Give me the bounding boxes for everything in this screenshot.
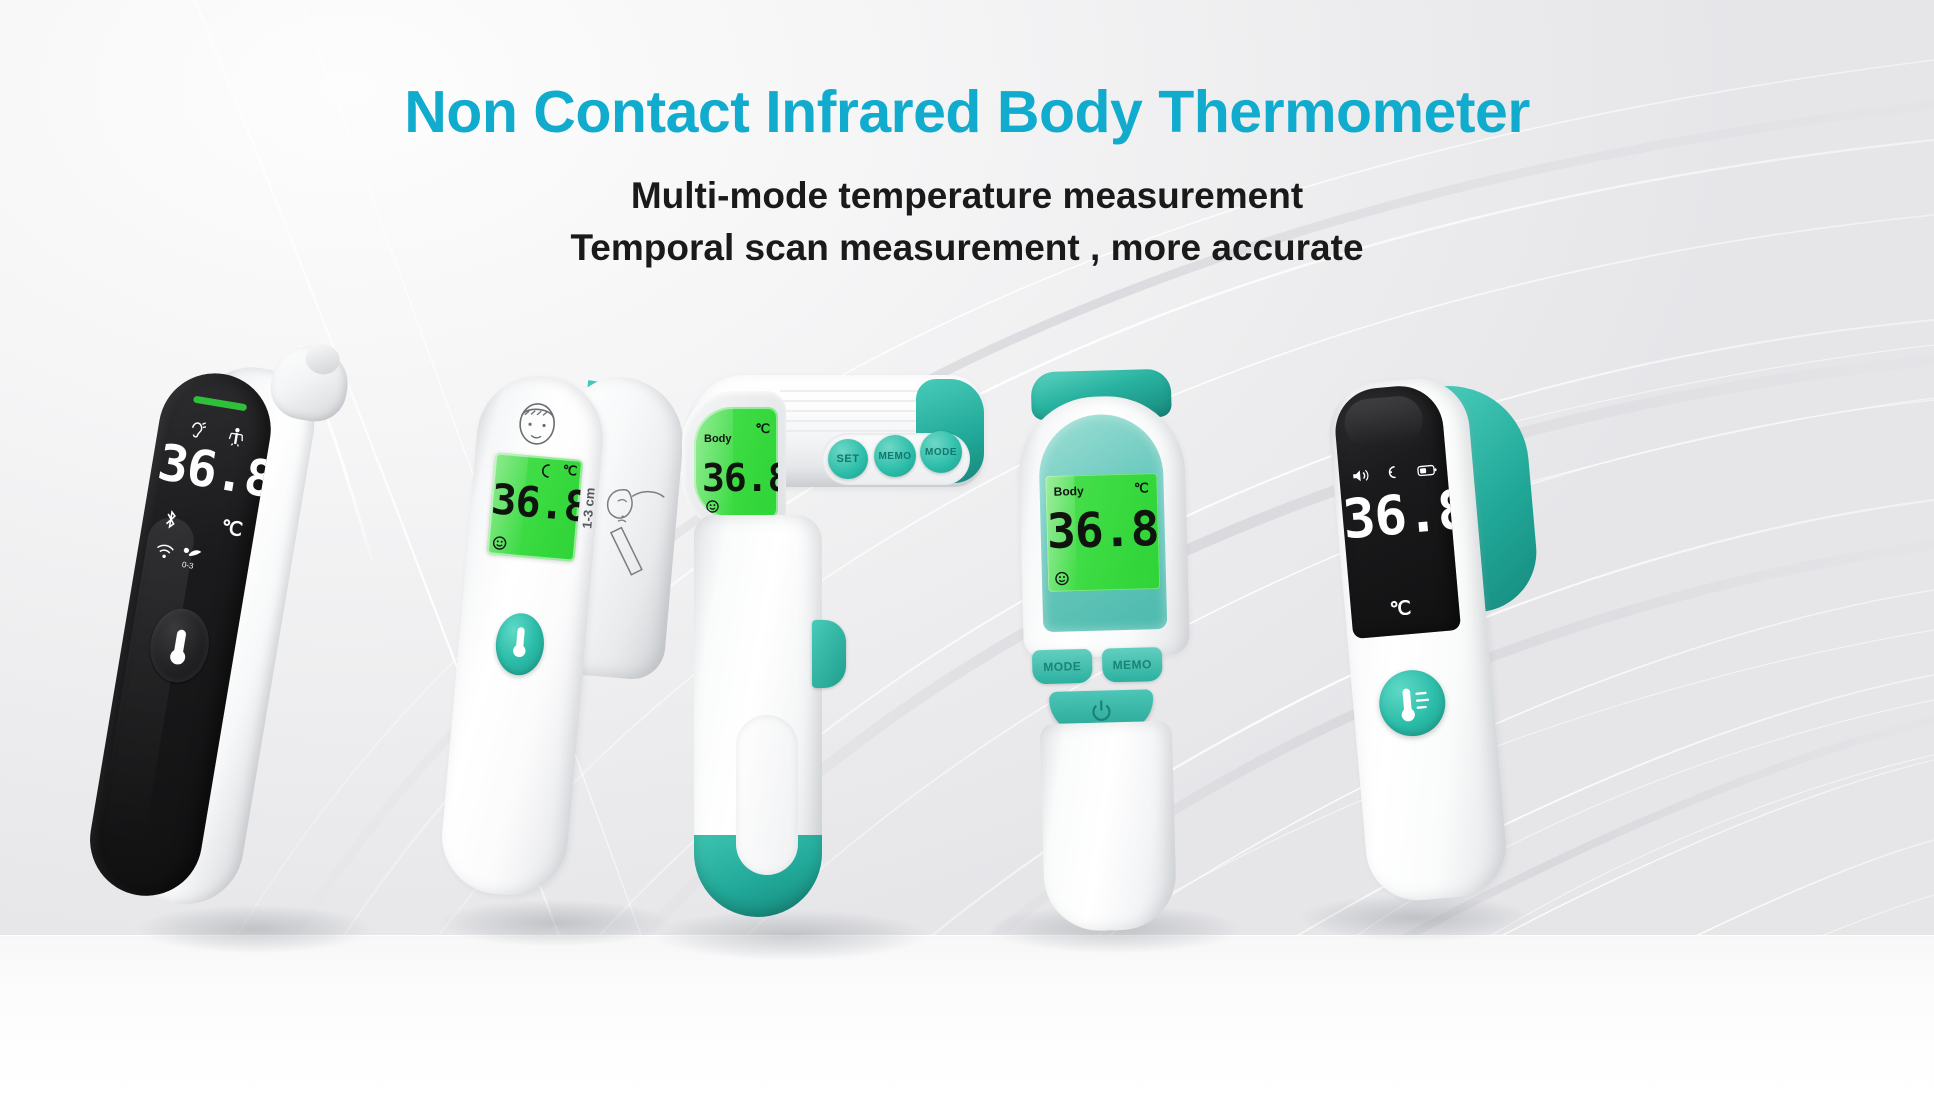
memo-button-4[interactable]: MEMO — [1102, 647, 1163, 683]
wifi-icon — [154, 541, 176, 560]
handle-inner-slot-3 — [736, 715, 798, 875]
subtitle-block: Multi-mode temperature measurement Tempo… — [0, 170, 1934, 275]
memo-button-label-4: MEMO — [1112, 657, 1152, 672]
mode-button-label-4: MODE — [1043, 659, 1081, 674]
smiley-icon — [492, 536, 507, 551]
temperature-unit-5: ℃ — [1350, 594, 1450, 625]
mode-button-3[interactable]: MODE — [920, 431, 962, 473]
subtitle-line-2: Temporal scan measurement , more accurat… — [0, 222, 1934, 275]
product-thermometer-oled-slim: 36.8 ℃ — [1292, 343, 1621, 935]
headings-block: Non Contact Infrared Body Thermometer Mu… — [0, 82, 1934, 275]
set-button-3[interactable]: SET — [828, 439, 868, 479]
mode-button-label-3: MODE — [925, 447, 957, 458]
smiley-icon — [1055, 571, 1069, 585]
temperature-unit-3: ℃ — [755, 421, 770, 437]
trigger-teal-3[interactable] — [812, 620, 846, 688]
page-title: Non Contact Infrared Body Thermometer — [0, 82, 1934, 144]
subtitle-line-1: Multi-mode temperature measurement — [0, 170, 1934, 223]
product-thermometer-gun-large: Body ℃ 36.8 SET MEMO MODE — [670, 365, 990, 945]
product-banner: Non Contact Infrared Body Thermometer Mu… — [0, 0, 1934, 1097]
product-thermometer-gun-teal-cap: Body ℃ 36.8 MODE MEMO — [989, 367, 1264, 934]
memo-button-3[interactable]: MEMO — [874, 435, 916, 477]
measure-button-5[interactable] — [1377, 667, 1449, 739]
mode-label-4: Body — [1054, 484, 1084, 499]
temperature-unit-1: ℃ — [219, 516, 243, 542]
lcd-screen-2: ℃ 36.8 — [487, 452, 584, 561]
lcd-screen-3: Body ℃ 36.8 — [694, 407, 778, 519]
forehead-icon — [539, 462, 554, 479]
temperature-reading-4: 36.8 — [1046, 505, 1159, 556]
mode-button-4[interactable]: MODE — [1032, 649, 1093, 685]
thermometer-icon — [493, 611, 546, 677]
temperature-unit-2: ℃ — [562, 462, 578, 479]
thermometer-scan-icon — [1377, 667, 1449, 739]
ear-scan-icon — [587, 469, 674, 587]
floor-surface — [0, 935, 1934, 1097]
measure-button-1[interactable] — [145, 604, 214, 687]
temperature-reading-3: 36.8 — [702, 459, 776, 497]
temperature-reading-1: 36.8 — [155, 437, 262, 503]
device-grip-4 — [1040, 721, 1177, 932]
product-thermometer-oled-ear: 36.8 ℃ 0-3 — [63, 311, 399, 942]
baby-age-label: 0-3 — [181, 560, 194, 571]
battery-icon — [1416, 463, 1437, 478]
temperature-reading-5: 36.8 — [1341, 485, 1445, 548]
status-bar-indicator-1 — [193, 396, 247, 412]
screen-gloss-5 — [1343, 394, 1425, 449]
memo-button-label-3: MEMO — [878, 451, 911, 462]
measure-button-2[interactable] — [493, 611, 546, 677]
sound-icon — [1351, 467, 1370, 485]
oled-screen-5: 36.8 ℃ — [1332, 383, 1461, 639]
temperature-unit-4: ℃ — [1134, 480, 1149, 496]
child-face-icon — [508, 394, 567, 453]
thermometer-icon — [145, 604, 214, 687]
power-icon — [1088, 698, 1115, 725]
lcd-screen-4: Body ℃ 36.8 — [1045, 473, 1160, 592]
set-button-label-3: SET — [837, 453, 860, 465]
smiley-icon — [706, 500, 719, 513]
mode-label-3: Body — [704, 433, 732, 445]
temperature-reading-2: 36.8 — [490, 478, 579, 527]
body-icon — [1385, 464, 1400, 482]
